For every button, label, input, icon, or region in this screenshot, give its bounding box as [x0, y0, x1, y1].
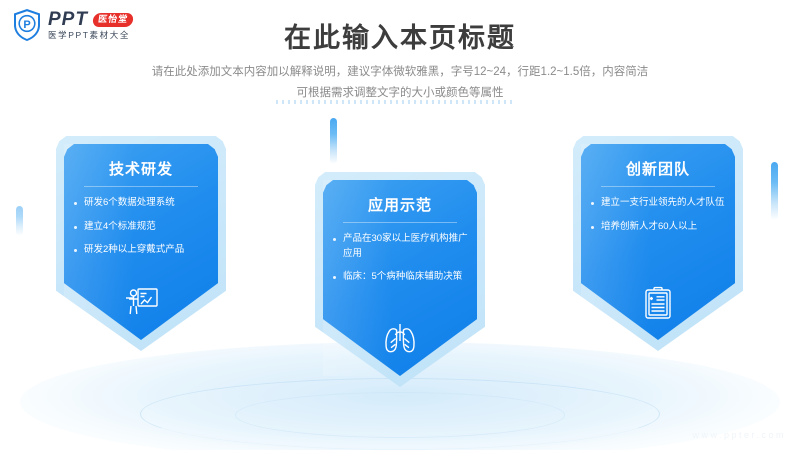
- page-title: 在此输入本页标题: [0, 16, 800, 55]
- medical-clipboard-icon: [638, 283, 678, 323]
- card-title: 应用示范: [315, 194, 485, 215]
- card-divider: [601, 186, 715, 187]
- card-title: 技术研发: [56, 158, 226, 179]
- card-divider: [343, 222, 457, 223]
- list-item: 建立一支行业领先的人才队伍: [591, 196, 731, 211]
- bullet-dot-icon: [74, 202, 77, 205]
- bullet-text: 建立4个标准规范: [84, 220, 156, 235]
- shield-card-team[interactable]: 创新团队 建立一支行业领先的人才队伍 培养创新人才60人以上: [573, 136, 743, 351]
- bullet-dot-icon: [591, 202, 594, 205]
- page-subtitle-line-1: 请在此处添加文本内容加以解释说明，建议字体微软雅黑，字号12~24，行距1.2~…: [80, 62, 720, 83]
- bullet-text: 研发2种以上穿戴式产品: [84, 243, 184, 258]
- decor-bar-right: [771, 162, 778, 220]
- bullet-dot-icon: [591, 226, 594, 229]
- list-item: 产品在30家以上医疗机构推广应用: [333, 232, 473, 261]
- bullet-text: 培养创新人才60人以上: [601, 220, 697, 235]
- ground-ring-inner: [235, 392, 565, 438]
- card-bullet-list: 研发6个数据处理系统 建立4个标准规范 研发2种以上穿戴式产品: [74, 196, 214, 267]
- page-subtitle: 请在此处添加文本内容加以解释说明，建议字体微软雅黑，字号12~24，行距1.2~…: [80, 62, 720, 105]
- lungs-icon: [378, 317, 422, 361]
- bullet-text: 产品在30家以上医疗机构推广应用: [343, 232, 473, 261]
- presentation-chart-icon: [121, 283, 161, 323]
- card-bullet-list: 产品在30家以上医疗机构推广应用 临床：5个病种临床辅助决策: [333, 232, 473, 294]
- site-watermark: www.ppter.com: [692, 430, 786, 440]
- list-item: 研发6个数据处理系统: [74, 196, 214, 211]
- page-subtitle-line-2: 可根据需求调整文字的大小或颜色等属性: [80, 83, 720, 104]
- shield-card-technology[interactable]: 技术研发 研发6个数据处理系统 建立4个标准规范 研发2种以上穿戴式产品: [56, 136, 226, 351]
- decor-bar-center: [330, 118, 337, 164]
- bullet-text: 建立一支行业领先的人才队伍: [601, 196, 725, 211]
- shield-card-application[interactable]: 应用示范 产品在30家以上医疗机构推广应用 临床：5个病种临床辅助决策: [315, 172, 485, 387]
- bullet-dot-icon: [333, 238, 336, 241]
- bullet-text: 研发6个数据处理系统: [84, 196, 175, 211]
- list-item: 培养创新人才60人以上: [591, 220, 731, 235]
- card-divider: [84, 186, 198, 187]
- list-item: 建立4个标准规范: [74, 220, 214, 235]
- bullet-text: 临床：5个病种临床辅助决策: [343, 270, 462, 285]
- card-bullet-list: 建立一支行业领先的人才队伍 培养创新人才60人以上: [591, 196, 731, 243]
- list-item: 研发2种以上穿戴式产品: [74, 243, 214, 258]
- slide-canvas: P PPT 医怡堂 医学PPT素材大全 在此输入本页标题 请在此处添加文本内容加…: [0, 0, 800, 450]
- bullet-dot-icon: [333, 276, 336, 279]
- bullet-dot-icon: [74, 226, 77, 229]
- list-item: 临床：5个病种临床辅助决策: [333, 270, 473, 285]
- bullet-dot-icon: [74, 249, 77, 252]
- card-title: 创新团队: [573, 158, 743, 179]
- decor-bar-left: [16, 206, 23, 236]
